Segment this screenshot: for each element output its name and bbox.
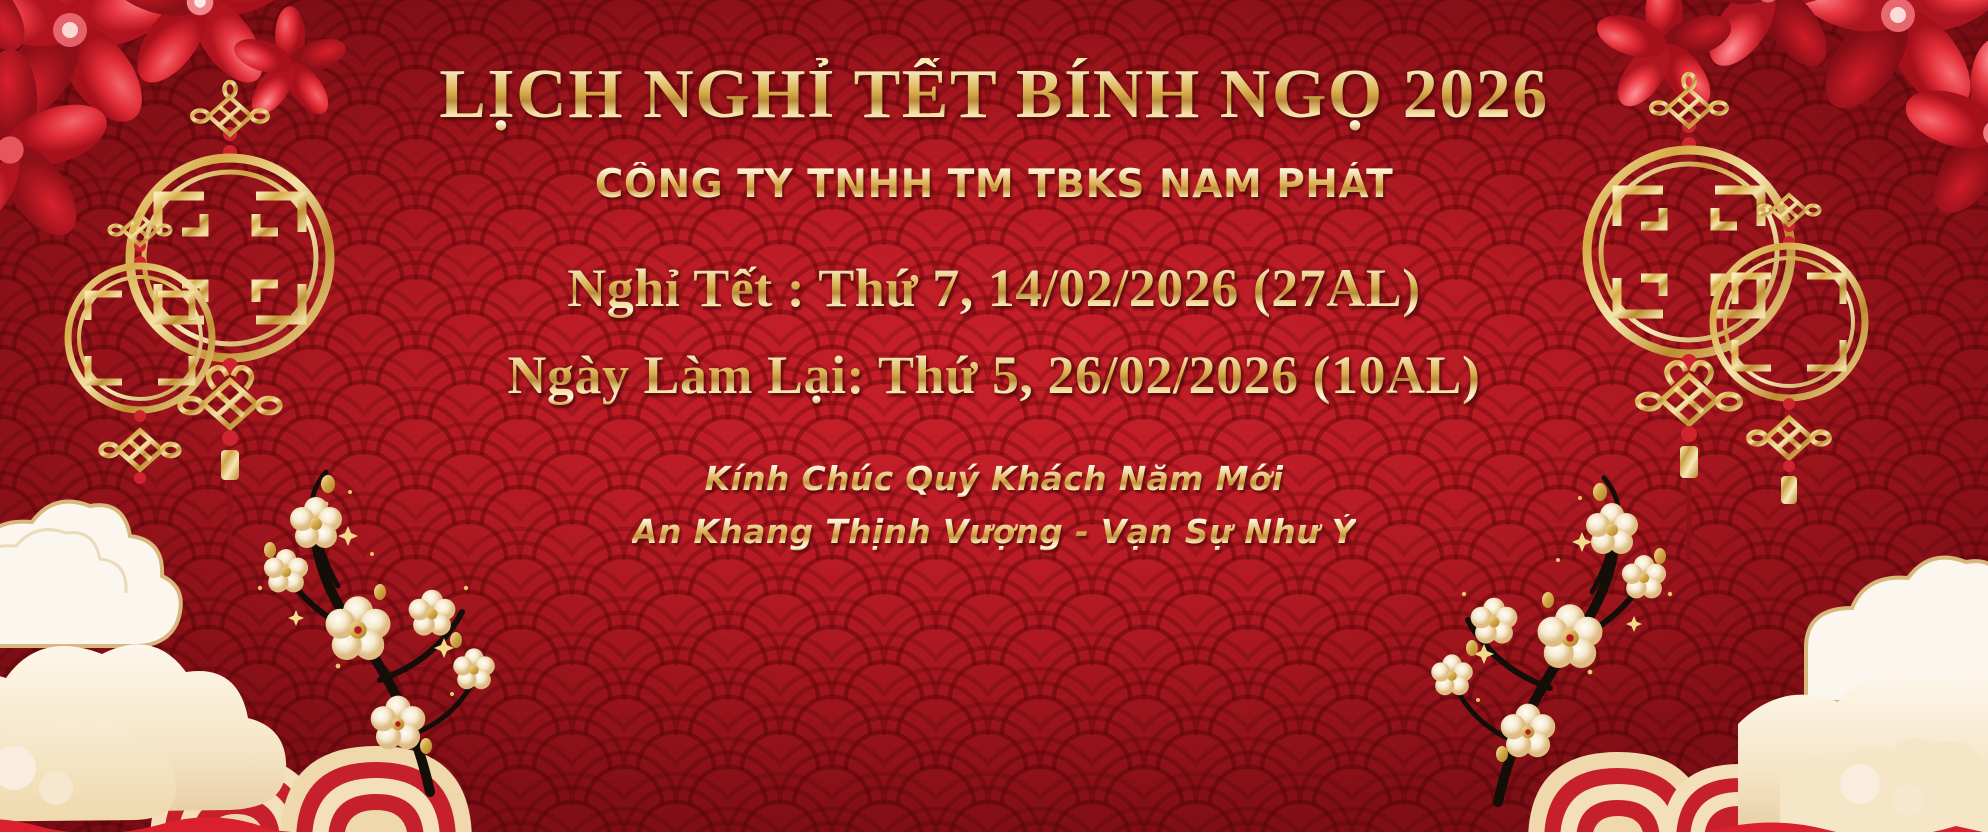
holiday-start-date: Nghỉ Tết : Thứ 7, 14/02/2026 (27AL)	[567, 259, 1420, 318]
company-name: CÔNG TY TNHH TM TBKS NAM PHÁT	[595, 162, 1393, 207]
holiday-return-date: Ngày Làm Lại: Thứ 5, 26/02/2026 (10AL)	[508, 346, 1481, 405]
page-title: LỊCH NGHỈ TẾT BÍNH NGỌ 2026	[439, 58, 1549, 132]
greeting-line-2: An Khang Thịnh Vượng - Vạn Sự Như Ý	[632, 514, 1356, 551]
tet-holiday-banner: LỊCH NGHỈ TẾT BÍNH NGỌ 2026 CÔNG TY TNHH…	[0, 0, 1988, 832]
banner-text-content: LỊCH NGHỈ TẾT BÍNH NGỌ 2026 CÔNG TY TNHH…	[0, 0, 1988, 832]
greeting-line-1: Kính Chúc Quý Khách Năm Mới	[705, 461, 1284, 498]
